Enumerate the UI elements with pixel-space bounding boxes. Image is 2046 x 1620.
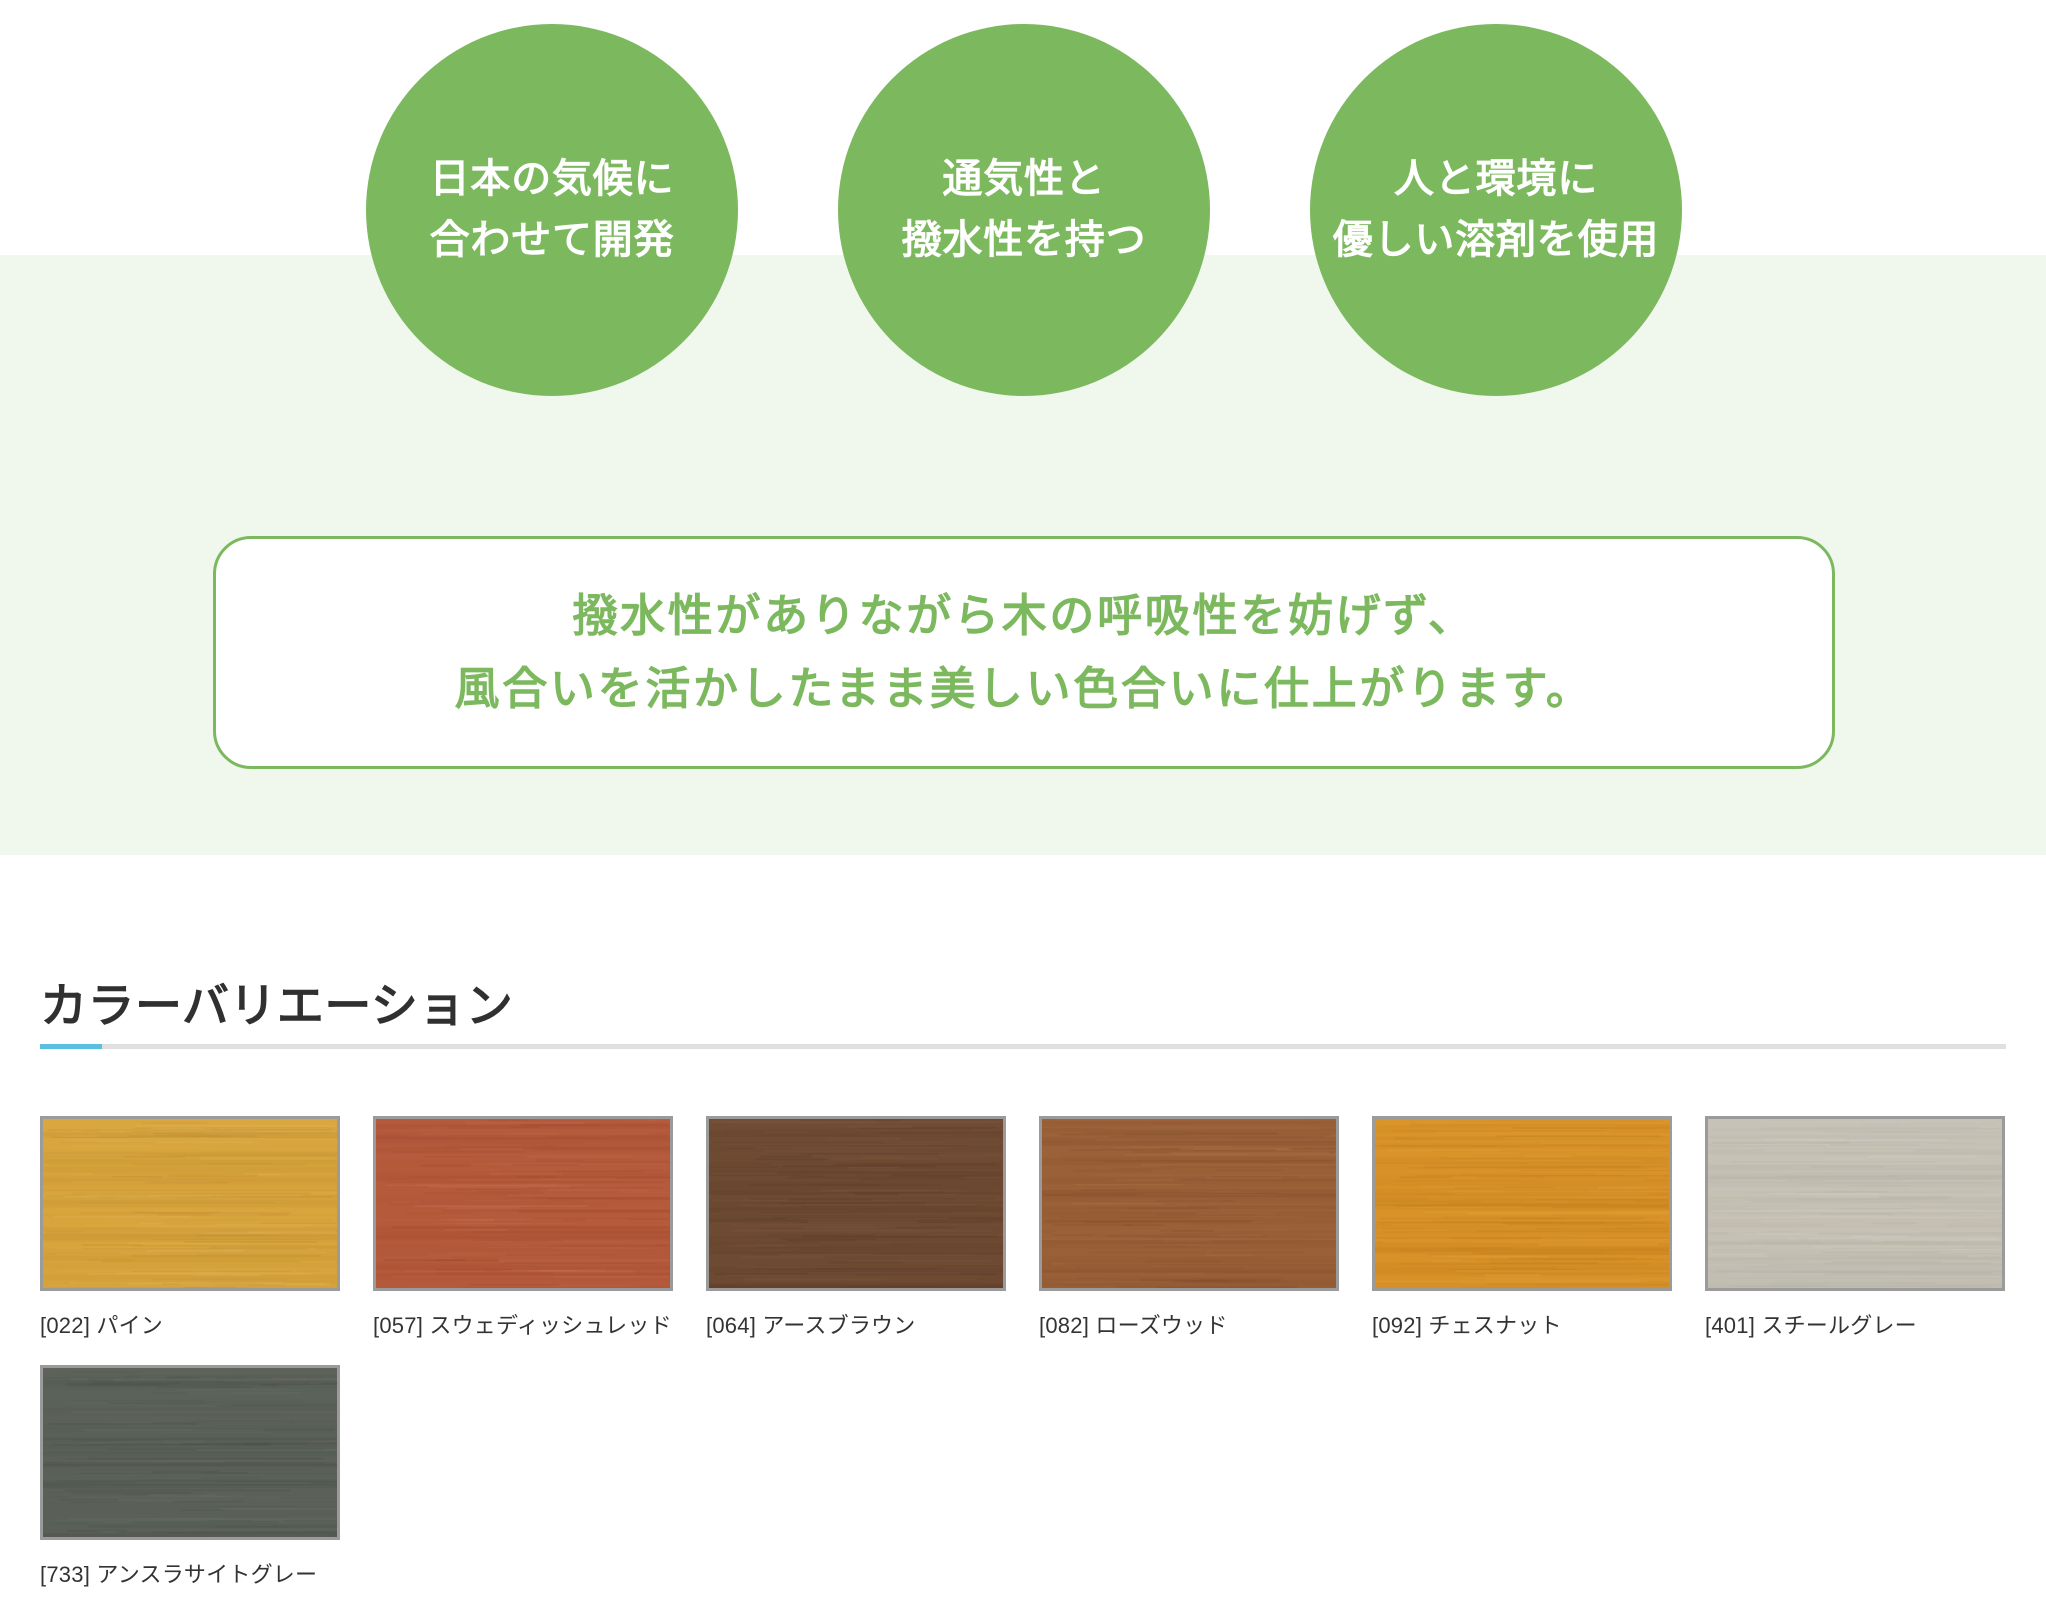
section-underline <box>40 1044 2006 1049</box>
color-swatch-label: [401] スチールグレー <box>1705 1309 2005 1343</box>
wood-grain-texture <box>1708 1119 2002 1288</box>
section-header: カラーバリエーション <box>40 978 2006 1069</box>
color-swatch-chip[interactable] <box>40 1116 340 1291</box>
color-variation-section: カラーバリエーション [022] パイン [057] スウェディッシュレッド [… <box>0 978 2046 1593</box>
page-title: カラーバリエーション <box>40 978 2006 1034</box>
color-swatch-chip[interactable] <box>706 1116 1006 1291</box>
color-swatch-label: [733] アンスラサイトグレー <box>40 1558 340 1592</box>
color-swatch-chip[interactable] <box>373 1116 673 1291</box>
feature-hero-section: 日本の気候に 合わせて開発 通気性と 撥水性を持つ 人と環境に 優しい溶剤を使用… <box>0 0 2046 855</box>
wood-grain-texture <box>43 1119 337 1288</box>
feature-circle-eco-solvent: 人と環境に 優しい溶剤を使用 <box>1310 24 1682 396</box>
color-swatch-label: [082] ローズウッド <box>1039 1309 1339 1343</box>
wood-grain-texture <box>43 1368 337 1537</box>
wood-grain-texture <box>376 1119 670 1288</box>
color-swatch-item[interactable]: [057] スウェディッシュレッド <box>373 1116 673 1343</box>
color-swatch-item[interactable]: [022] パイン <box>40 1116 340 1343</box>
color-swatch-label: [092] チェスナット <box>1372 1309 1672 1343</box>
color-swatch-item[interactable]: [092] チェスナット <box>1372 1116 1672 1343</box>
feature-circle-label: 通気性と 撥水性を持つ <box>902 149 1147 271</box>
callout-text: 撥水性がありながら木の呼吸性を妨げず、 風合いを活かしたまま美しい色合いに仕上が… <box>455 580 1594 726</box>
color-swatch-chip[interactable] <box>1039 1116 1339 1291</box>
feature-circle-label: 人と環境に 優しい溶剤を使用 <box>1333 149 1659 271</box>
wood-grain-texture <box>1375 1119 1669 1288</box>
color-swatch-label: [064] アースブラウン <box>706 1309 1006 1343</box>
wood-grain-texture <box>1042 1119 1336 1288</box>
feature-circle-group: 日本の気候に 合わせて開発 通気性と 撥水性を持つ 人と環境に 優しい溶剤を使用 <box>0 0 2046 440</box>
color-swatch-label: [022] パイン <box>40 1309 340 1343</box>
color-swatch-item[interactable]: [733] アンスラサイトグレー <box>40 1365 340 1592</box>
highlight-callout-box: 撥水性がありながら木の呼吸性を妨げず、 風合いを活かしたまま美しい色合いに仕上が… <box>213 536 1835 769</box>
feature-circle-label: 日本の気候に 合わせて開発 <box>430 149 675 271</box>
color-swatch-chip[interactable] <box>1705 1116 2005 1291</box>
color-swatch-item[interactable]: [064] アースブラウン <box>706 1116 1006 1343</box>
color-swatch-label: [057] スウェディッシュレッド <box>373 1309 673 1343</box>
color-swatch-chip[interactable] <box>40 1365 340 1540</box>
feature-circle-breathability: 通気性と 撥水性を持つ <box>838 24 1210 396</box>
wood-grain-texture <box>709 1119 1003 1288</box>
color-swatch-item[interactable]: [401] スチールグレー <box>1705 1116 2005 1343</box>
feature-circle-climate: 日本の気候に 合わせて開発 <box>366 24 738 396</box>
color-swatch-chip[interactable] <box>1372 1116 1672 1291</box>
color-swatch-grid: [022] パイン [057] スウェディッシュレッド [064] アースブラウ… <box>40 1116 2006 1592</box>
color-swatch-item[interactable]: [082] ローズウッド <box>1039 1116 1339 1343</box>
